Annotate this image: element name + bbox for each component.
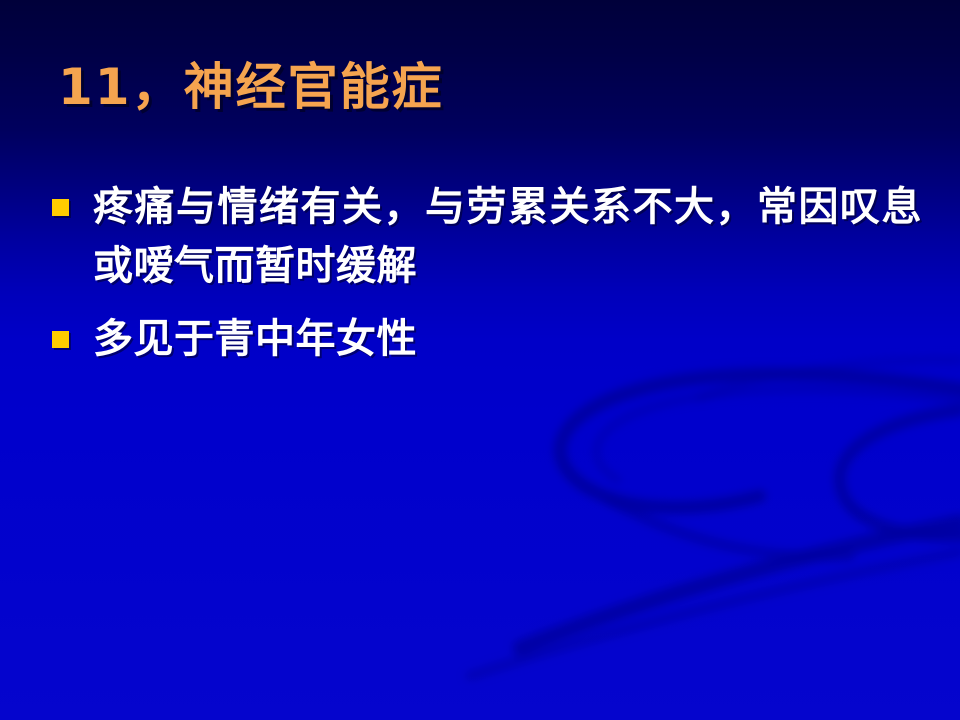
bullet-square-icon (52, 199, 69, 216)
list-item: 多见于青中年女性 (52, 310, 922, 369)
list-item: 疼痛与情绪有关，与劳累关系不大，常因叹息或嗳气而暂时缓解 (52, 178, 922, 296)
bullet-text: 多见于青中年女性 (93, 310, 922, 369)
slide-body: 疼痛与情绪有关，与劳累关系不大，常因叹息或嗳气而暂时缓解 多见于青中年女性 (52, 178, 922, 383)
bullet-text: 疼痛与情绪有关，与劳累关系不大，常因叹息或嗳气而暂时缓解 (93, 178, 922, 296)
bullet-square-icon (52, 331, 69, 348)
slide-title: 11，神经官能症 (58, 52, 918, 132)
presentation-slide: 11，神经官能症 疼痛与情绪有关，与劳累关系不大，常因叹息或嗳气而暂时缓解 多见… (0, 0, 960, 720)
slide-title-text: 11，神经官能症 (58, 52, 918, 122)
